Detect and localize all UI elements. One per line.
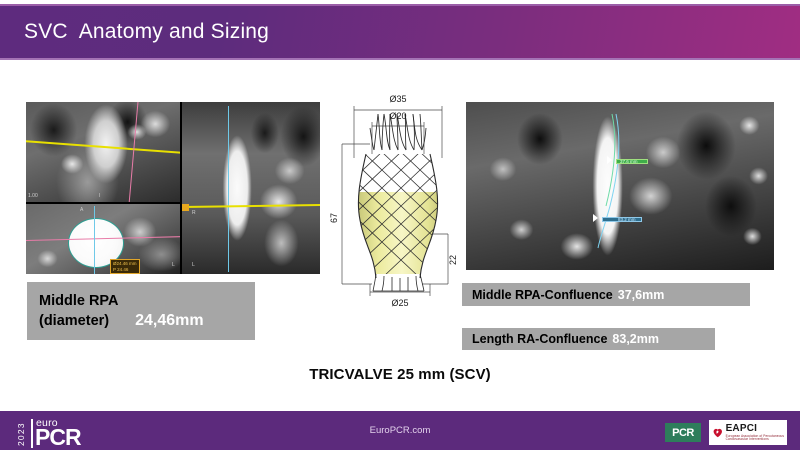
measurement-label-line2: (diameter) — [39, 311, 109, 331]
eapci-subtitle: European Association of Percutaneous Car… — [726, 435, 787, 441]
logo-divider — [31, 419, 33, 448]
stent-drawing: Ø35 Ø20 67 22 Ø25 — [330, 88, 470, 313]
orientation-marker — [182, 204, 189, 211]
ct-right-panel: 37.6 mm 83.2 mm — [466, 102, 774, 270]
heart-icon — [713, 425, 723, 441]
logo-year-text: 2023 — [16, 418, 26, 446]
measurement-label-rpa-confluence: Middle RPA-Confluence — [472, 288, 613, 302]
eapci-text-block: EAPCI European Association of Percutaneo… — [726, 424, 787, 442]
device-caption: TRICVALVE 25 mm (SCV) — [0, 366, 800, 383]
measurement-value-middle-rpa: 24,46mm — [135, 312, 204, 330]
ct-image-coronal — [182, 102, 320, 274]
slide-header-bar: SVC Anatomy and Sizing — [0, 4, 800, 60]
europcr-logo: 2023 euro PCR — [14, 415, 106, 449]
stent-dim-top-inner: Ø20 — [389, 111, 406, 121]
measurement-label-green: 37.6 mm — [620, 159, 638, 164]
ct-view-sagittal: 1.00 I — [26, 102, 180, 202]
slide-root: SVC Anatomy and Sizing 1.00 I A L Ø24.46… — [0, 0, 800, 450]
vessel-centerline — [598, 114, 619, 248]
stent-dim-top-outer: Ø35 — [389, 94, 406, 104]
centerline-overlay — [466, 102, 774, 270]
ct-image-sagittal — [26, 102, 180, 202]
ct-corner-label-inferior-2: L — [192, 262, 195, 268]
measurement-box-ra-confluence: Length RA-Confluence 83,2mm — [462, 328, 715, 350]
logo-pcr-text: PCR — [35, 426, 81, 449]
ct-corner-label-right: R — [192, 210, 196, 216]
slide-footer-bar: EuroPCR.com 2023 euro PCR PCR EAPCI Euro… — [0, 411, 800, 450]
ct-corner-label-scale: 1.00 — [28, 193, 38, 199]
ct-corner-label-left: L — [172, 262, 175, 268]
measurement-label-ra-confluence: Length RA-Confluence — [472, 332, 607, 346]
eapci-badge: EAPCI European Association of Percutaneo… — [709, 420, 787, 445]
measurement-box-middle-rpa: Middle RPA (diameter) 24,46mm — [27, 282, 255, 340]
stent-skirt-struts — [373, 274, 424, 291]
page-title: SVC Anatomy and Sizing — [24, 20, 269, 44]
eapci-name: EAPCI — [726, 424, 787, 434]
measurement-label-line1: Middle RPA — [39, 291, 118, 311]
measurement-box-rpa-confluence: Middle RPA-Confluence 37,6mm — [462, 283, 750, 306]
tricvalve-stent-diagram: Ø35 Ø20 67 22 Ø25 — [330, 88, 470, 313]
measurement-label-blue: 83.2 mm — [618, 217, 636, 222]
ct-corner-label-anterior: A — [80, 207, 83, 213]
diameter-annotation-tag: Ø24.46 mm P 24.46 — [110, 259, 140, 274]
measurement-value-ra-confluence: 83,2mm — [612, 332, 659, 346]
ct-left-panel: 1.00 I A L Ø24.46 mm P 24.46 R L — [26, 102, 320, 274]
caliper-arrow-top — [607, 156, 612, 164]
ct-corner-label-inferior: I — [99, 193, 100, 199]
pcr-badge: PCR — [665, 423, 701, 442]
stent-dim-lower: 22 — [448, 255, 458, 265]
ct-view-axial: A L Ø24.46 mm P 24.46 — [26, 204, 180, 274]
stent-dim-bottom: Ø25 — [391, 298, 408, 308]
caliper-arrow-bottom — [593, 214, 598, 222]
measurement-value-rpa-confluence: 37,6mm — [618, 288, 665, 302]
measurement-row: (diameter) 24,46mm — [39, 311, 204, 331]
stent-dim-height: 67 — [330, 213, 339, 223]
ct-view-coronal: R L — [182, 102, 320, 274]
